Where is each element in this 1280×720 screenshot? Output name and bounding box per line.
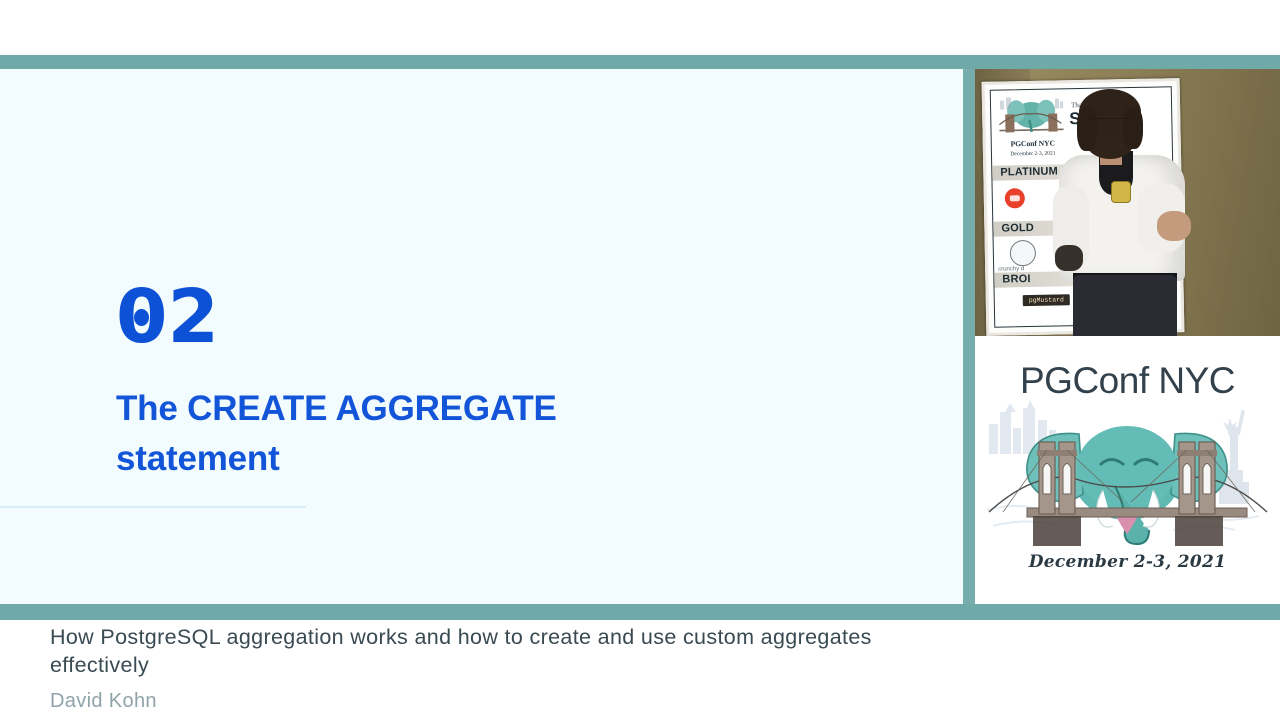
poster-logo-date: December 2-3, 2021 [1010, 151, 1055, 158]
speaker-pants [1073, 275, 1177, 336]
slide-heading-line-1: The CREATE AGGREGATE [116, 389, 557, 428]
sponsor-logo-2ndquadrant-icon [1005, 188, 1025, 208]
poster-tier-bronze-label: BROI [1002, 273, 1031, 286]
presentation-video-frame: 02 The CREATE AGGREGATE statement [0, 0, 1280, 720]
top-accent-band [0, 55, 1280, 69]
slide-number-two: 2 [168, 274, 220, 360]
speaker-figure [1053, 89, 1213, 336]
speaker-glasses-icon [1090, 118, 1132, 127]
caption-block: How PostgreSQL aggregation works and how… [50, 624, 880, 713]
bottom-accent-band [0, 604, 1280, 620]
vertical-divider-band [963, 69, 975, 604]
speaker-badge [1111, 181, 1131, 203]
slide-heading-line-2: statement [116, 439, 280, 478]
speaker-hair-left [1077, 107, 1097, 151]
slide-content-area: 02 The CREATE AGGREGATE statement [0, 69, 963, 604]
poster-tier-gold-label: GOLD [1001, 222, 1034, 235]
pgconf-nyc-elephant-bridge-icon [983, 390, 1272, 555]
poster-logo-title: PGConf NYC [1011, 139, 1056, 149]
sponsor-logo-crunchy-data-icon [1010, 240, 1036, 266]
conference-logo-panel: PGConf NYC [975, 338, 1280, 604]
slide-section-number: 02 [116, 280, 219, 354]
slide-horizontal-rule [0, 506, 306, 508]
speaker-hand-right [1157, 211, 1191, 241]
talk-title: How PostgreSQL aggregation works and how… [50, 624, 880, 679]
speaker-hair-right [1123, 107, 1143, 149]
poster-tier-platinum-label: PLATINUM [1000, 165, 1058, 178]
speaker-video-panel[interactable]: PGConf NYC December 2-3, 2021 Thanks to … [975, 69, 1280, 336]
slide-number-zero: 0 [116, 280, 168, 354]
speaker-hand-left [1055, 245, 1083, 271]
slide-heading: The CREATE AGGREGATE statement [116, 384, 736, 483]
conference-logo-date: December 2-3, 2021 [975, 552, 1280, 572]
talk-author: David Kohn [50, 690, 880, 713]
